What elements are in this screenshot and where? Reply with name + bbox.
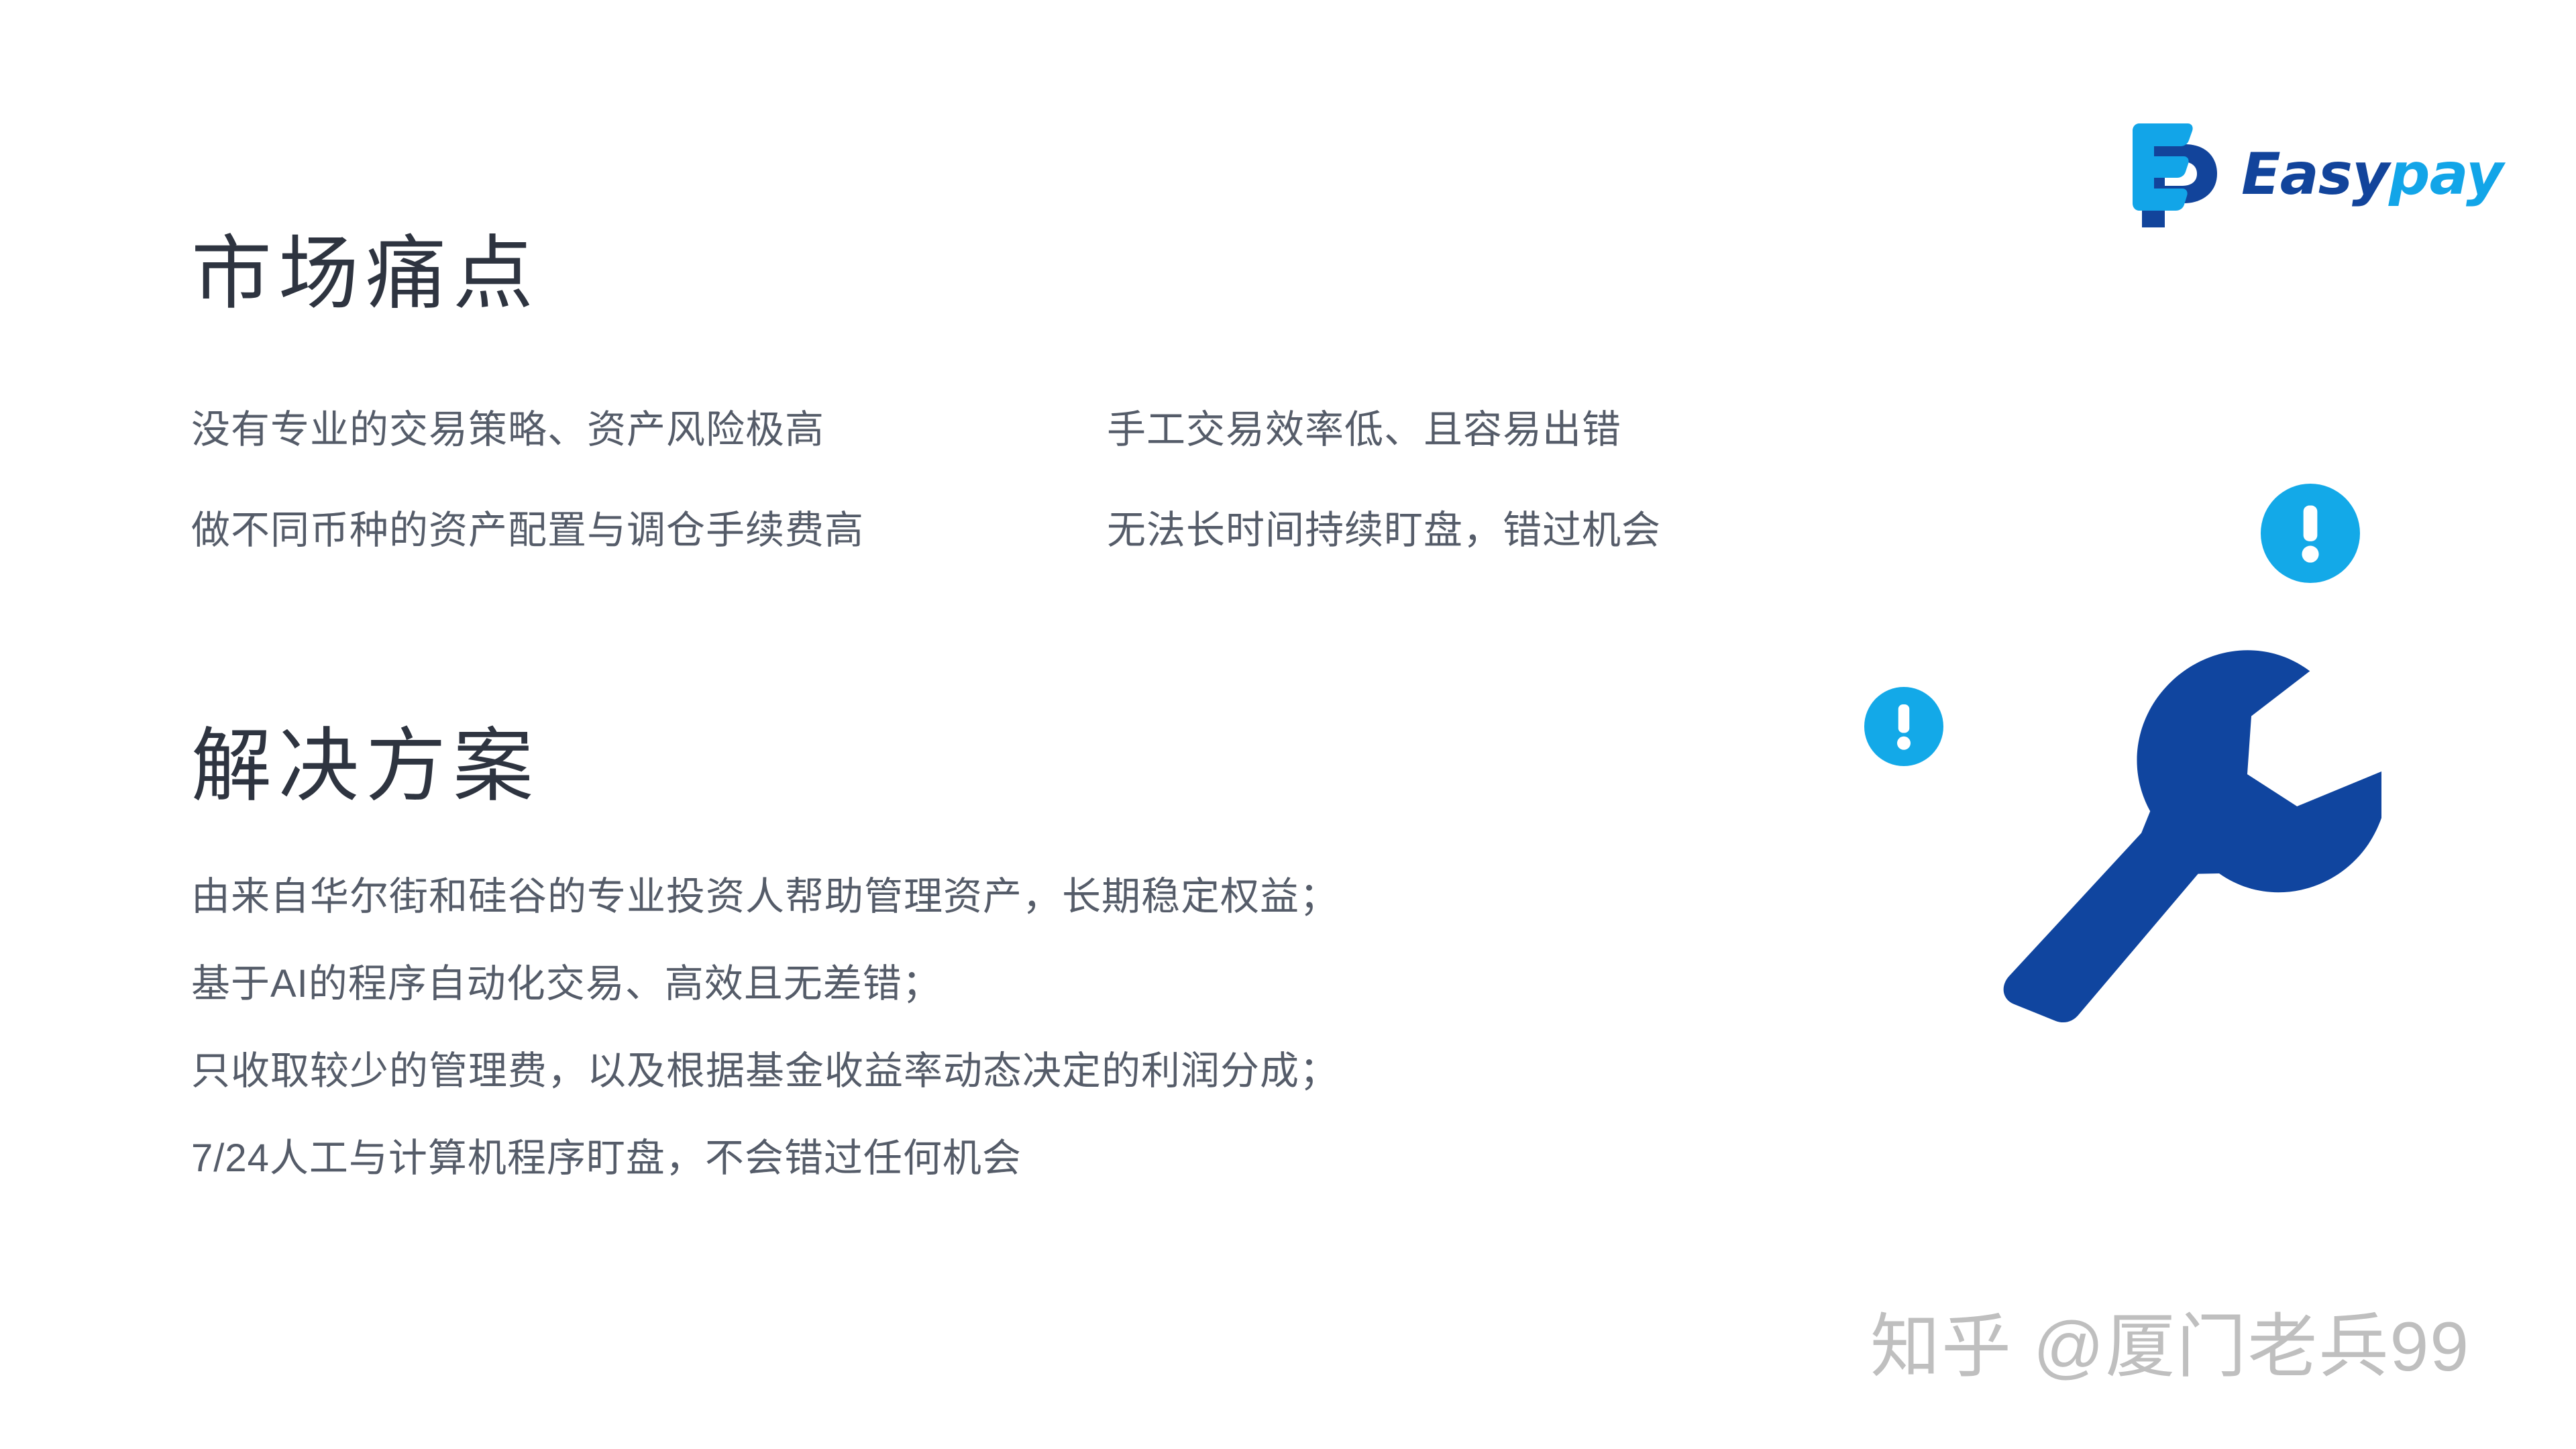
pain-point-item: 没有专业的交易策略、资产风险极高 — [191, 411, 1107, 511]
pain-point-item: 手工交易效率低、且容易出错 — [1107, 411, 1630, 511]
brand-wordmark: Easypay — [2241, 146, 2503, 203]
easypay-logo-mark — [2130, 121, 2218, 227]
watermark-text: 知乎 @厦门老兵99 — [1870, 1300, 2514, 1394]
brand-logo: Easypay — [2130, 121, 2506, 228]
alert-exclamation-icon — [2261, 484, 2360, 583]
pain-point-item: 无法长时间持续盯盘，错过机会 — [1107, 511, 1630, 612]
slide-canvas: Easypay 市场痛点 没有专业的交易策略、资产风险极高 手工交易效率低、且容… — [0, 0, 2576, 1449]
pain-point-item: 做不同币种的资产配置与调仓手续费高 — [191, 511, 1107, 612]
pain-points-row: 做不同币种的资产配置与调仓手续费高 无法长时间持续盯盘，错过机会 — [191, 511, 1633, 612]
section-title-solution: 解决方案 — [191, 726, 540, 806]
solution-list: 由来自华尔街和硅谷的专业投资人帮助管理资产，长期稳定权益； 基于AI的程序自动化… — [191, 877, 1801, 1226]
solution-item: 基于AI的程序自动化交易、高效且无差错； — [191, 965, 1801, 1052]
pain-points-grid: 没有专业的交易策略、资产风险极高 手工交易效率低、且容易出错 做不同币种的资产配… — [191, 411, 1633, 612]
section-title-pain-points: 市场痛点 — [191, 233, 540, 314]
solution-item: 7/24人工与计算机程序盯盘，不会错过任何机会 — [191, 1139, 1801, 1226]
wrench-icon — [1966, 624, 2381, 1053]
solution-item: 由来自华尔街和硅谷的专业投资人帮助管理资产，长期稳定权益； — [191, 877, 1801, 965]
brand-word-pay: pay — [2389, 141, 2503, 208]
brand-word-easy: Easy — [2241, 141, 2389, 208]
solution-item: 只收取较少的管理费，以及根据基金收益率动态决定的利润分成； — [191, 1052, 1801, 1139]
alert-exclamation-icon — [1864, 687, 1943, 766]
pain-points-row: 没有专业的交易策略、资产风险极高 手工交易效率低、且容易出错 — [191, 411, 1633, 511]
